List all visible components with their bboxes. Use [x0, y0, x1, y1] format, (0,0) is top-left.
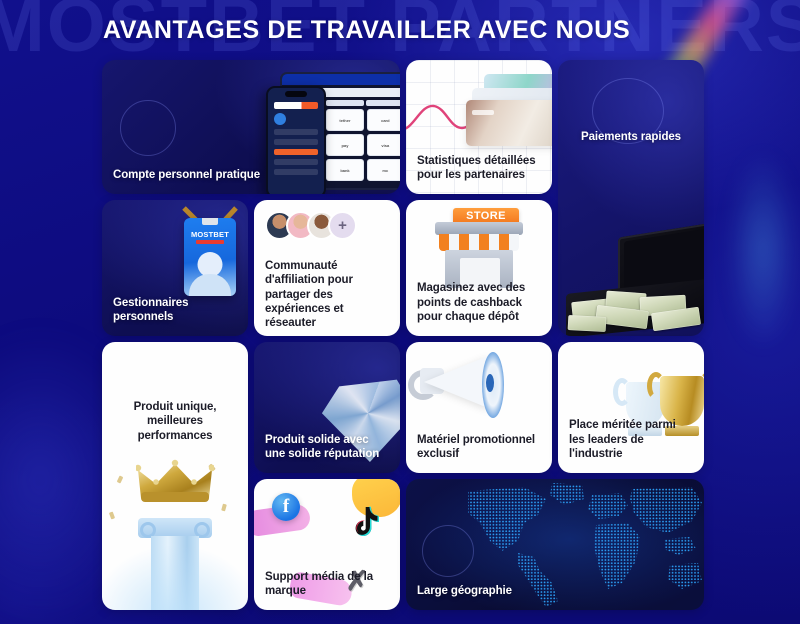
facebook-icon: f — [272, 493, 300, 521]
card-gestionnaires-personnels[interactable]: 24/7 MOSTBET Gestionnaires personnels — [102, 200, 248, 336]
add-member-icon[interactable]: + — [328, 211, 357, 240]
card-label: Statistiques détaillées pour les partena… — [406, 154, 552, 195]
badge-logo-text: MOSTBET — [190, 230, 230, 239]
storefront-icon: STORE — [427, 208, 531, 290]
card-label: Support média de la marque — [254, 570, 400, 611]
card-paiements-rapides[interactable]: Paiements rapides — [558, 60, 704, 336]
card-label: Compte personnel pratique — [102, 168, 400, 194]
ring-decor — [422, 525, 474, 577]
card-label: Magasinez avec des points de cashback po… — [406, 281, 552, 336]
card-label: Gestionnaires personnels — [102, 296, 248, 337]
card-statistiques[interactable]: Statistiques détaillées pour les partena… — [406, 60, 552, 194]
folder-icon — [462, 74, 552, 152]
card-communaute-affiliation[interactable]: + Communauté d'affiliation pour partager… — [254, 200, 400, 336]
benefits-card-grid: bitcointethercard Capitecpayvisa AstroPa… — [102, 60, 698, 605]
id-badge-icon: MOSTBET — [184, 218, 236, 296]
cyan-glow-decor — [728, 150, 798, 350]
promo-banner: MOSTBET PARTNERS AVANTAGES DE TRAVAILLER… — [0, 0, 800, 624]
card-compte-personnel[interactable]: bitcointethercard Capitecpayvisa AstroPa… — [102, 60, 400, 194]
avatar-group-icon: + — [254, 200, 400, 240]
card-label: Place méritée parmi les leaders de l'ind… — [558, 418, 704, 473]
ring-decor — [120, 100, 176, 156]
card-label: Large géographie — [406, 584, 704, 610]
card-materiel-promotionnel[interactable]: Matériel promotionnel exclusif — [406, 342, 552, 473]
briefcase-money-icon — [566, 230, 704, 336]
card-label: Matériel promotionnel exclusif — [406, 433, 552, 474]
card-label: Paiements rapides — [558, 118, 704, 144]
tiktok-icon — [352, 505, 382, 537]
trophy-cups-icon — [604, 344, 704, 426]
card-label: Produit unique, meilleures performances — [102, 388, 248, 443]
card-support-media[interactable]: f ✗ Support média de la marque — [254, 479, 400, 610]
card-22000-jeux[interactable]: 22 000 jeux. Produit solide avec une sol… — [254, 342, 400, 473]
card-produit-unique[interactable]: Produit unique, meilleures performances — [102, 342, 248, 610]
card-magasinez-cashback[interactable]: STORE Magasinez avec des points de cashb… — [406, 200, 552, 336]
card-large-geographie[interactable]: Large géographie — [406, 479, 704, 610]
crown-pedestal-icon — [102, 450, 248, 610]
card-label: Produit solide avec une solide réputatio… — [254, 433, 400, 474]
crown-icon — [136, 458, 214, 504]
megaphone-icon — [406, 346, 526, 424]
card-label: Communauté d'affiliation pour partager d… — [254, 248, 400, 336]
card-place-meritee[interactable]: Place méritée parmi les leaders de l'ind… — [558, 342, 704, 473]
page-title: AVANTAGES DE TRAVAILLER AVEC NOUS — [103, 16, 630, 45]
